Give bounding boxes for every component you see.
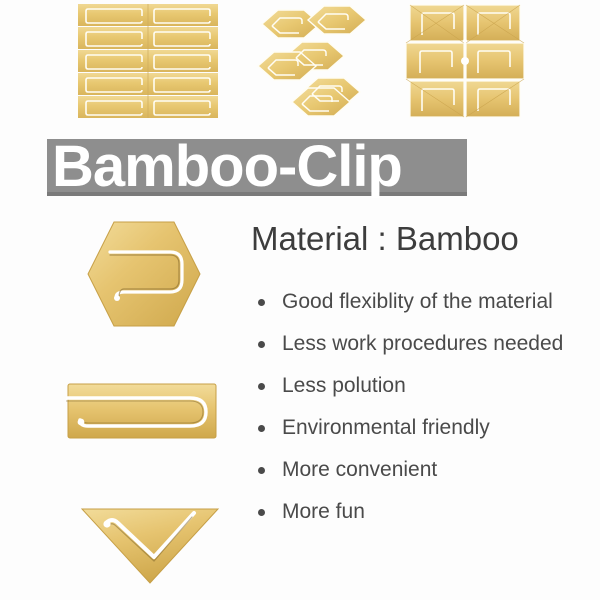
bullet-icon: [258, 383, 265, 390]
hexagonal-clip-cluster-graphic: [252, 2, 376, 120]
bullet-icon: [258, 425, 265, 432]
list-item-label: Less polution: [282, 374, 406, 397]
bullet-icon: [258, 341, 265, 348]
bullet-icon: [258, 509, 265, 516]
feature-list: Good flexiblity of the material Less wor…: [252, 281, 592, 533]
list-item: Good flexiblity of the material: [252, 281, 592, 323]
bullet-icon: [258, 467, 265, 474]
list-item: More convenient: [252, 449, 592, 491]
rectangular-clip-sheet-graphic: [78, 4, 218, 118]
product-image-single-triangle-clip: [78, 505, 222, 587]
single-hexagon-clip-graphic: [84, 218, 204, 330]
product-image-hexagonal-clip-cluster: [252, 2, 376, 120]
page-title: Bamboo-Clip: [52, 128, 522, 206]
square-clip-sheet-graphic: [404, 3, 528, 119]
product-image-square-clip-sheet: [404, 3, 528, 119]
poster-canvas: Bamboo-Clip Material : Bamboo Good flexi…: [0, 0, 600, 600]
list-item: Less polution: [252, 365, 592, 407]
list-item: More fun: [252, 491, 592, 533]
material-heading: Material : Bamboo: [251, 220, 519, 258]
bullet-icon: [258, 299, 265, 306]
list-item-label: More convenient: [282, 458, 437, 481]
list-item-label: Good flexiblity of the material: [282, 290, 553, 313]
product-image-single-rectangle-clip: [66, 380, 218, 444]
list-item-label: More fun: [282, 500, 365, 523]
product-image-rectangular-clip-sheet: [78, 4, 218, 118]
list-item-label: Less work procedures needed: [282, 332, 563, 355]
product-image-single-hexagon-clip: [84, 218, 204, 330]
list-item-label: Environmental friendly: [282, 416, 490, 439]
list-item: Less work procedures needed: [252, 323, 592, 365]
list-item: Environmental friendly: [252, 407, 592, 449]
single-rectangle-clip-graphic: [66, 380, 218, 444]
single-triangle-clip-graphic: [78, 505, 222, 587]
